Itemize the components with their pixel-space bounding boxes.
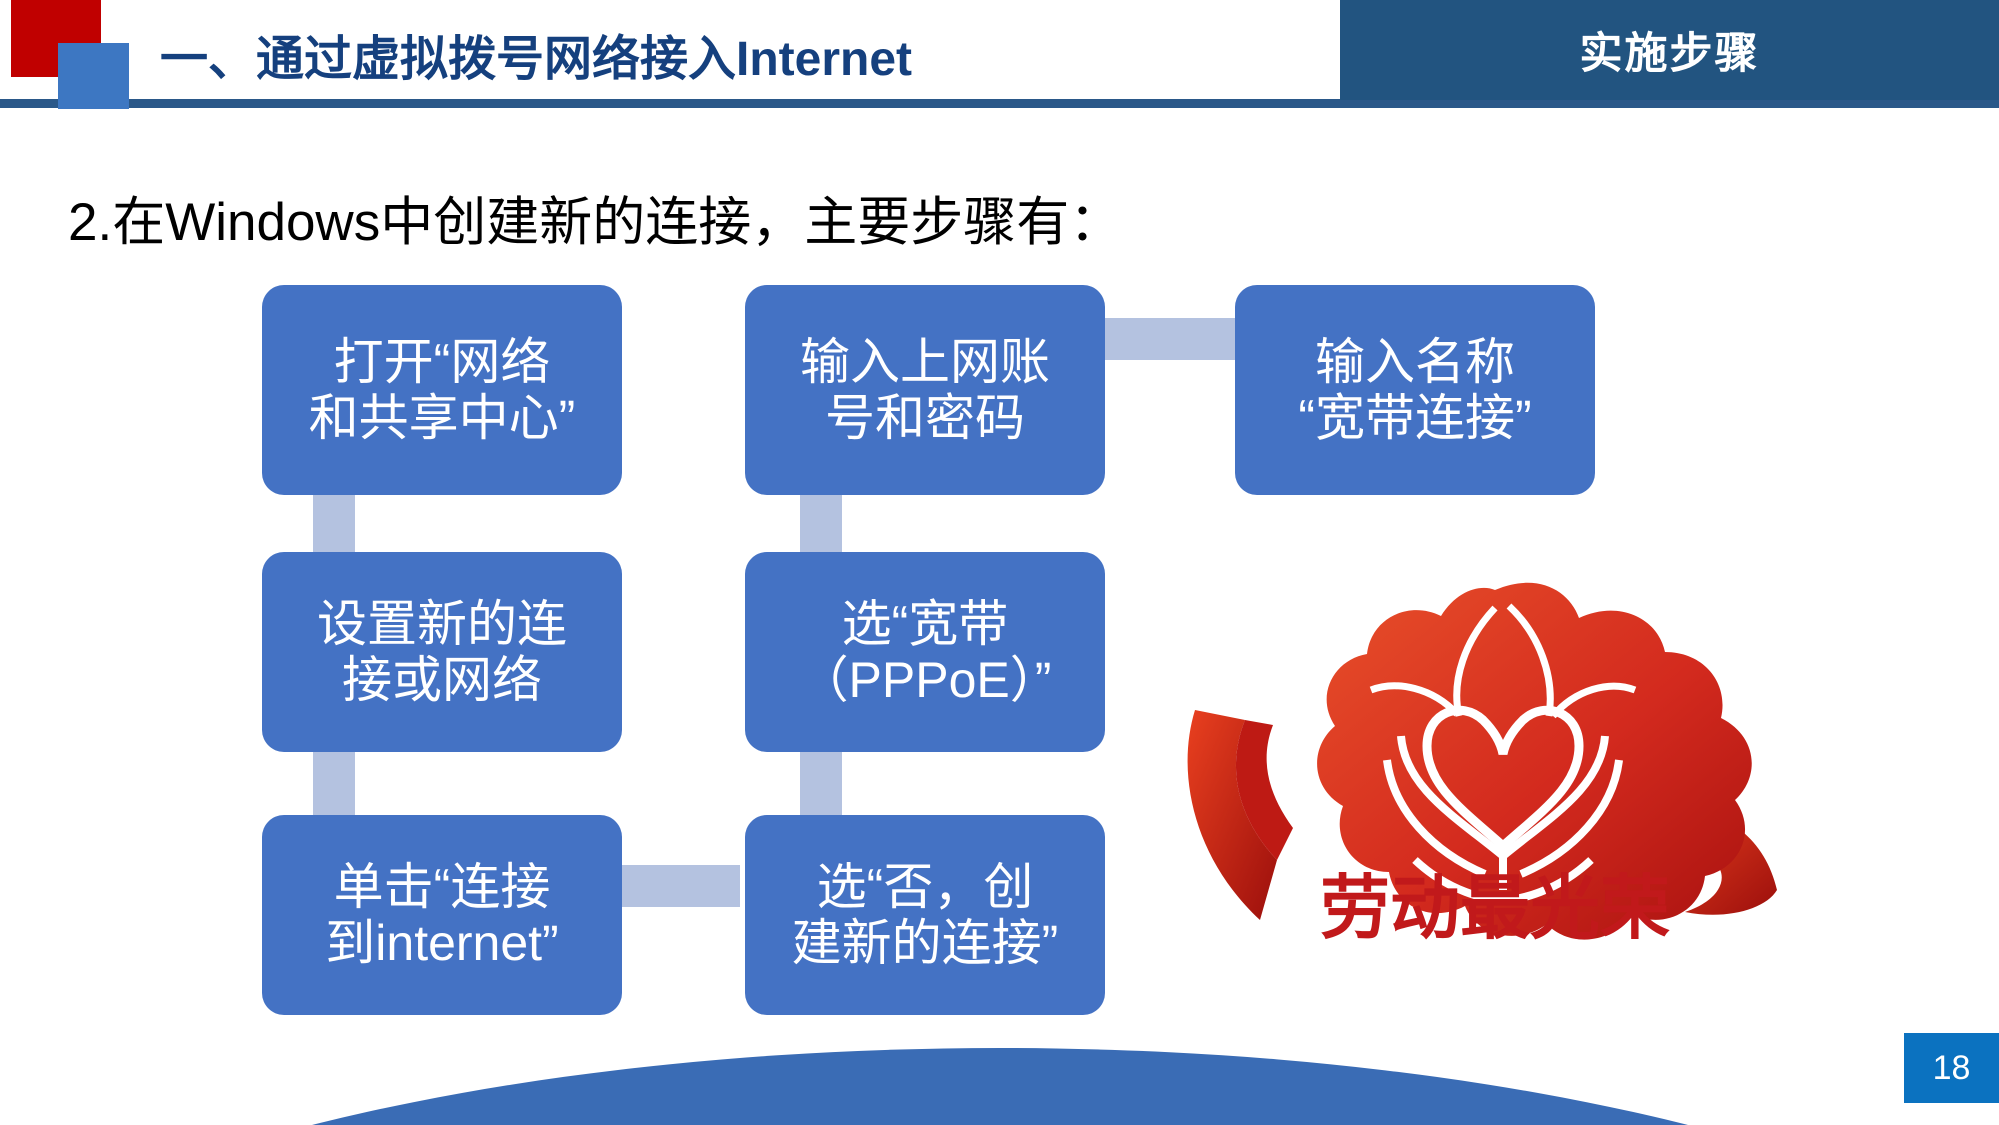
flow-box-line-2: 建新的连接” [792, 915, 1059, 971]
flow-box-line-2: “宽带连接” [1298, 390, 1531, 446]
flow-box-line-1: 打开“网络 [309, 334, 576, 390]
slide-canvas: 一、通过虚拟拨号网络接入Internet 实施步骤 2.在Windows中创建新… [0, 0, 1999, 1125]
flow-box-line-2: 和共享中心” [309, 390, 576, 446]
lead-paragraph: 2.在Windows中创建新的连接，主要步骤有： [68, 180, 1122, 256]
header-blue-square [58, 43, 129, 109]
flow-box-setup-new-connection[interactable]: 设置新的连 接或网络 [262, 552, 622, 752]
header-section-label: 实施步骤 [1580, 19, 1760, 81]
footer-arc-decoration [0, 1048, 1999, 1125]
connector-h-box4-box7 [1095, 318, 1235, 360]
logo-caption-text: 劳动最光荣 [1320, 869, 1670, 947]
page-title: 一、通过虚拟拨号网络接入Internet [160, 16, 1310, 92]
flow-box-line-1: 选“宽带 [799, 596, 1052, 652]
flow-box-line-1: 设置新的连 [317, 596, 567, 652]
flow-box-line-2: 到internet” [325, 915, 558, 971]
labor-is-glorious-rose-emblem-icon: 劳动最光荣 [1165, 560, 1825, 960]
flow-box-line-1: 单击“连接 [325, 859, 558, 915]
flow-box-line-1: 输入名称 [1298, 334, 1531, 390]
flow-box-open-network-center[interactable]: 打开“网络 和共享中心” [262, 285, 622, 495]
flow-box-choose-create-new[interactable]: 选“否，创 建新的连接” [745, 815, 1105, 1015]
header-section-badge: 实施步骤 [1340, 0, 1999, 100]
connector-v-box1-box2 [313, 490, 355, 560]
flow-box-line-1: 选“否，创 [792, 859, 1059, 915]
page-number-badge: 18 [1904, 1033, 1999, 1103]
flow-box-line-2: 号和密码 [800, 390, 1050, 446]
header-divider-line [0, 99, 1999, 108]
flow-box-line-2: （PPPoE）” [799, 652, 1052, 708]
flow-box-click-connect-internet[interactable]: 单击“连接 到internet” [262, 815, 622, 1015]
flow-box-line-2: 接或网络 [317, 652, 567, 708]
flow-box-line-1: 输入上网账 [800, 334, 1050, 390]
connector-v-box5-box4 [800, 490, 842, 560]
flow-box-enter-account[interactable]: 输入上网账 号和密码 [745, 285, 1105, 495]
flow-box-choose-broadband[interactable]: 选“宽带 （PPPoE）” [745, 552, 1105, 752]
connector-v-box6-box5 [800, 750, 842, 820]
flow-box-enter-name[interactable]: 输入名称 “宽带连接” [1235, 285, 1595, 495]
connector-v-box2-box3 [313, 750, 355, 820]
